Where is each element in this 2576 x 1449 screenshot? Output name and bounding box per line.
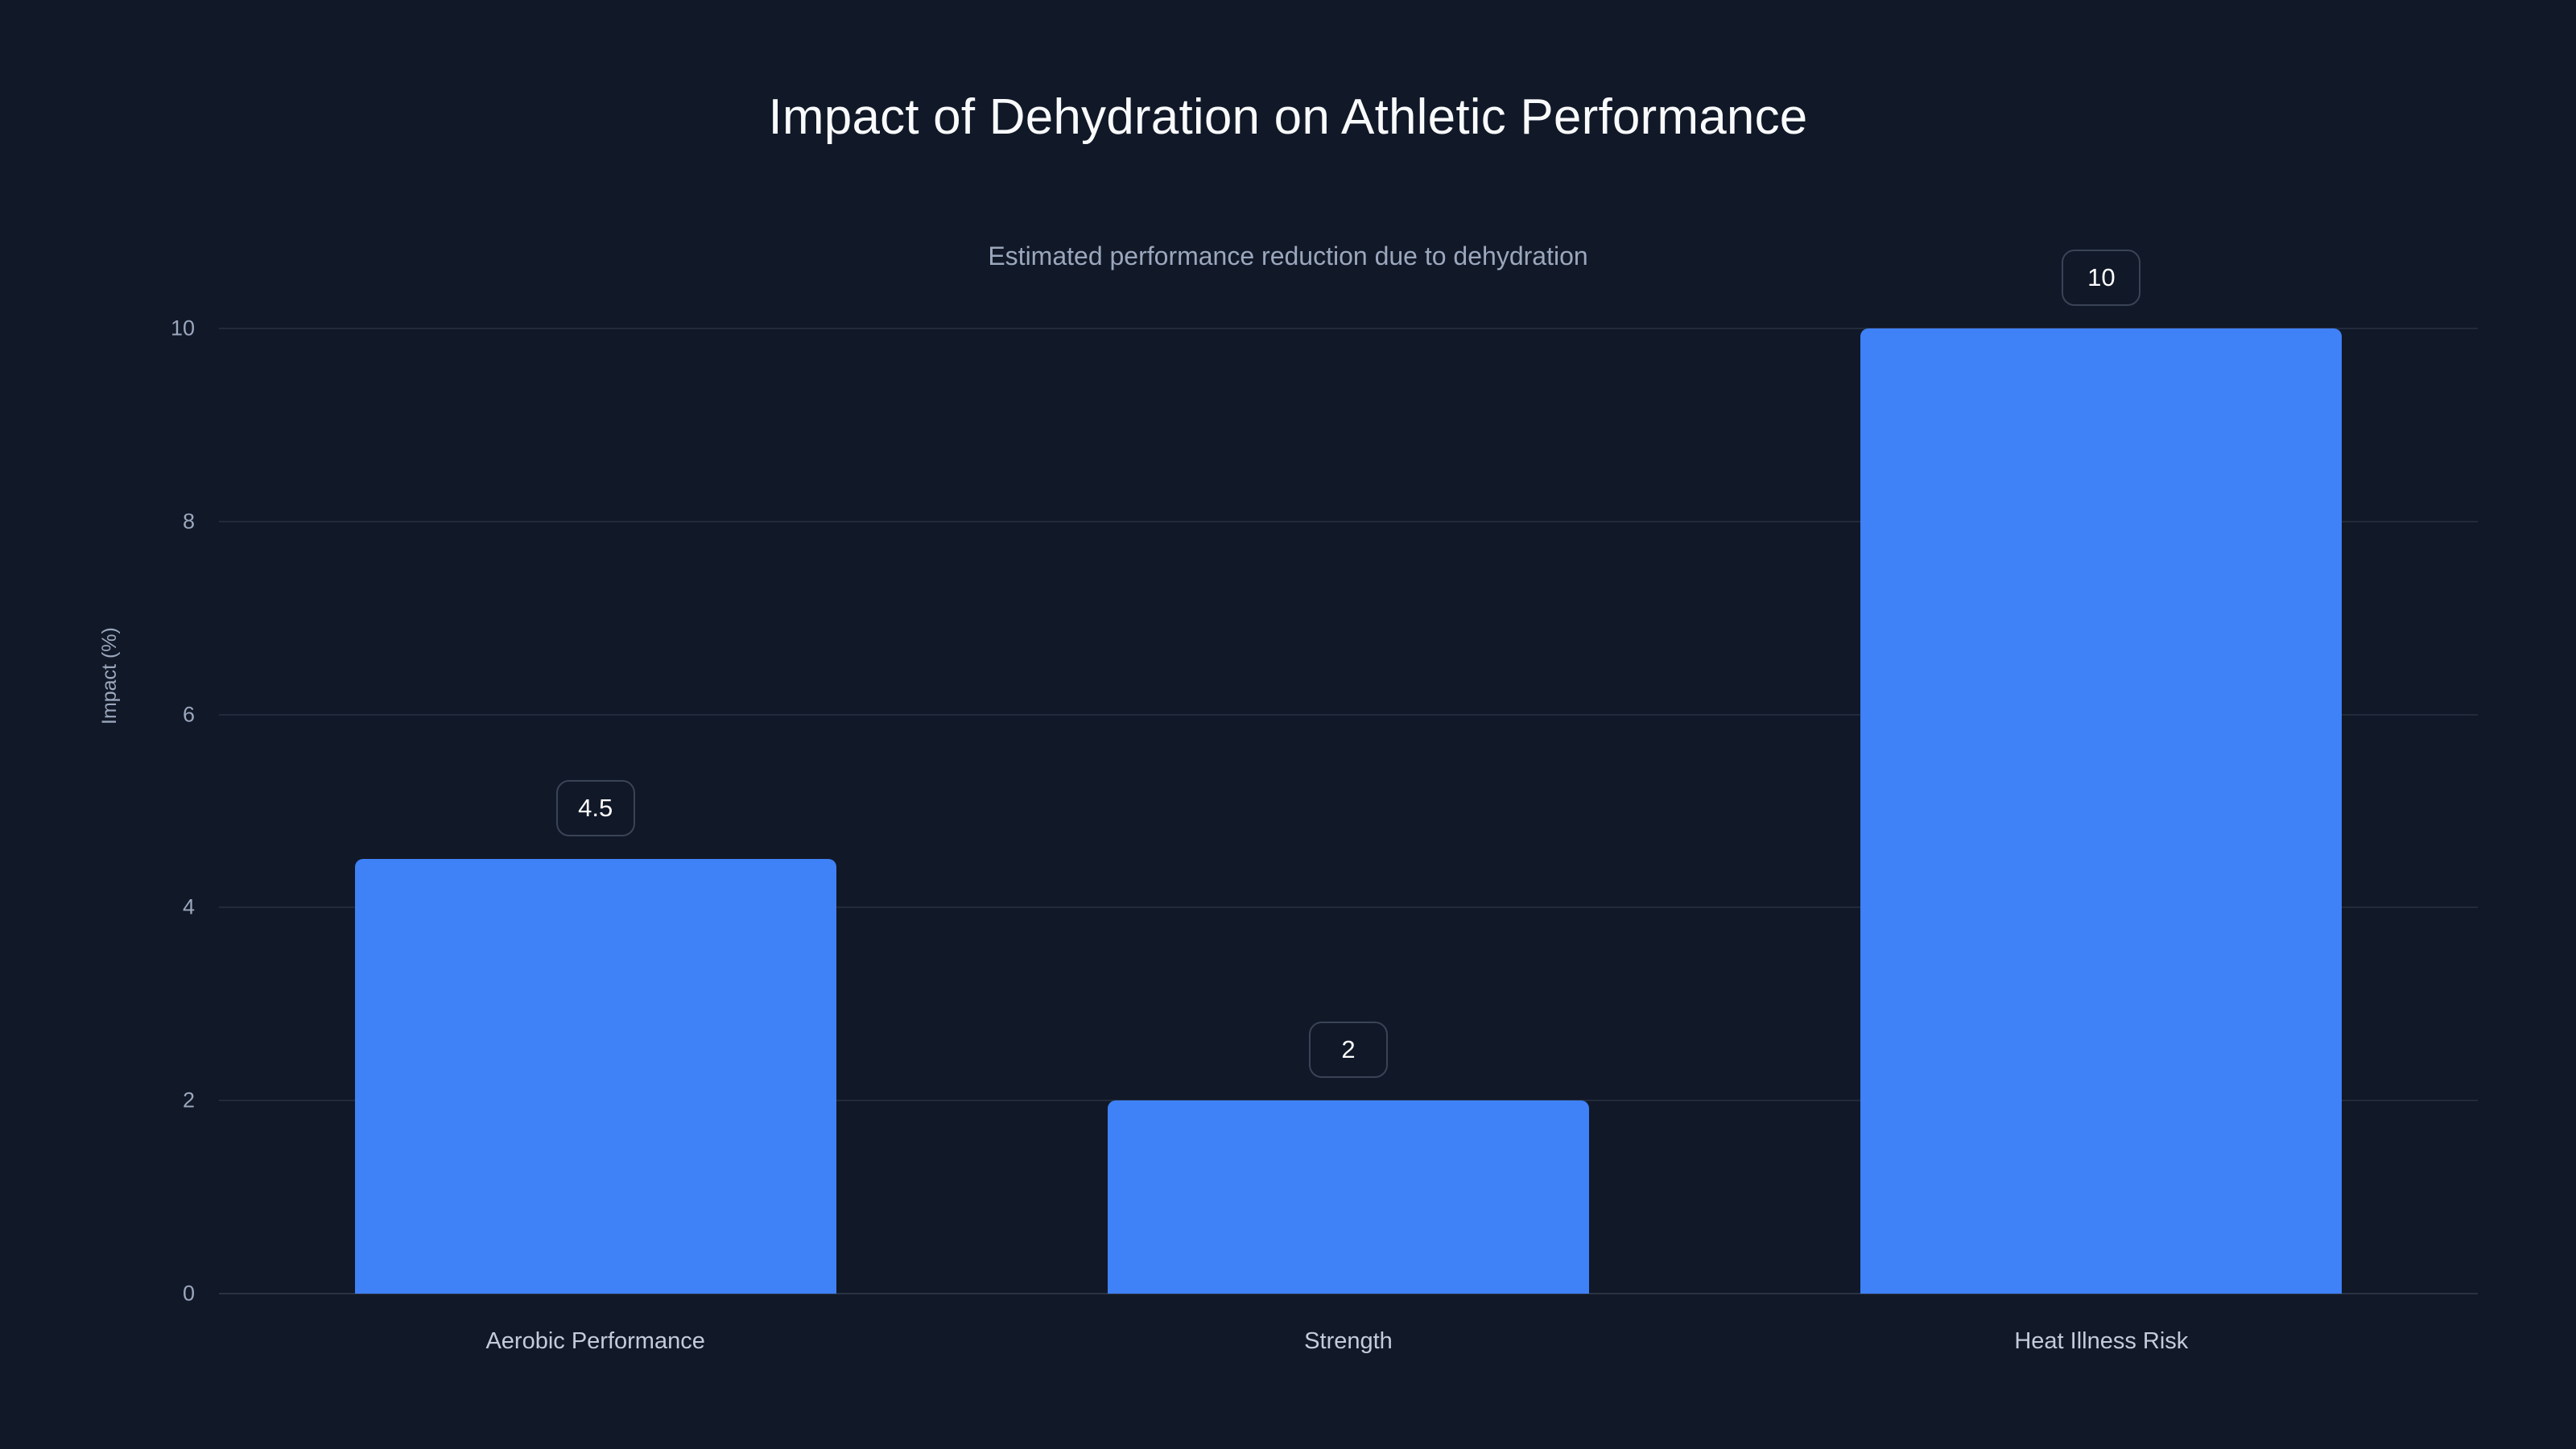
bar-value-badge: 10 bbox=[2062, 250, 2140, 306]
y-tick-label: 8 bbox=[147, 509, 195, 534]
x-tick-label: Aerobic Performance bbox=[485, 1328, 704, 1355]
bar-value-badge: 2 bbox=[1309, 1022, 1388, 1078]
x-tick-label: Heat Illness Risk bbox=[2014, 1328, 2188, 1355]
bar[interactable] bbox=[1108, 1100, 1589, 1294]
bar-value-badge: 4.5 bbox=[556, 780, 635, 836]
plot-area: 4.5210 bbox=[219, 328, 2478, 1294]
x-tick-label: Strength bbox=[1304, 1328, 1393, 1355]
chart-subtitle: Estimated performance reduction due to d… bbox=[0, 242, 2576, 271]
bar[interactable] bbox=[1860, 328, 2342, 1294]
y-axis-title: Impact (%) bbox=[98, 692, 122, 724]
y-axis-tick-labels: 0246810 bbox=[121, 328, 195, 1294]
bar[interactable] bbox=[355, 859, 836, 1294]
y-tick-label: 0 bbox=[147, 1282, 195, 1307]
y-tick-label: 6 bbox=[147, 702, 195, 727]
y-tick-label: 2 bbox=[147, 1088, 195, 1113]
y-tick-label: 4 bbox=[147, 895, 195, 920]
y-tick-label: 10 bbox=[147, 316, 195, 341]
chart-title: Impact of Dehydration on Athletic Perfor… bbox=[0, 89, 2576, 146]
